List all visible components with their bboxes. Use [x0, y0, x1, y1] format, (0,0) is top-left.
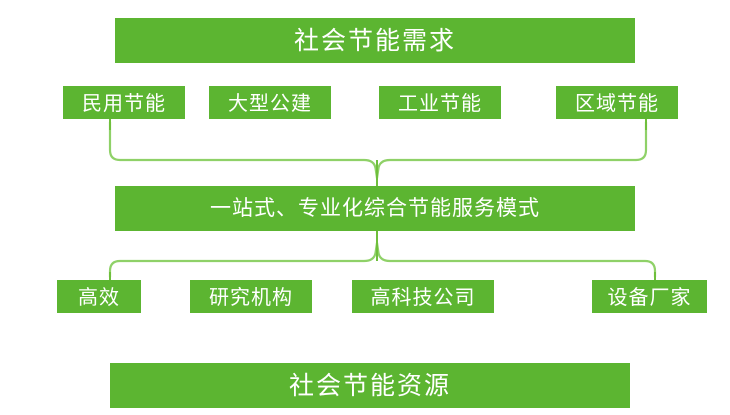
demand-chip-large-public: 大型公建: [209, 86, 331, 119]
demand-chip-regional-label: 区域节能: [575, 93, 659, 113]
center-service-bar-label: 一站式、专业化综合节能服务模式: [210, 198, 540, 219]
demand-chip-civil: 民用节能: [63, 86, 185, 119]
diagram-canvas: 社会节能需求 民用节能 大型公建 工业节能 区域节能 一站式、专业化综合节能服务…: [0, 0, 730, 415]
center-service-bar: 一站式、专业化综合节能服务模式: [115, 186, 635, 231]
footer-banner-label: 社会节能资源: [289, 373, 451, 398]
demand-chip-regional: 区域节能: [556, 86, 678, 119]
resource-chip-hitech-company: 高科技公司: [352, 280, 494, 313]
resource-chip-equipment-manufacturer-label: 设备厂家: [608, 287, 692, 307]
resource-chip-efficient: 高效: [57, 280, 141, 313]
lower-brace-icon: [110, 243, 655, 277]
title-banner: 社会节能需求: [115, 18, 635, 63]
resource-chip-research-institute-label: 研究机构: [209, 287, 293, 307]
resource-chip-equipment-manufacturer: 设备厂家: [592, 280, 707, 313]
upper-brace-icon: [110, 122, 646, 178]
title-banner-label: 社会节能需求: [294, 28, 456, 53]
demand-chip-industrial-label: 工业节能: [398, 93, 482, 113]
demand-chip-civil-label: 民用节能: [82, 93, 166, 113]
demand-chip-large-public-label: 大型公建: [228, 93, 312, 113]
resource-chip-efficient-label: 高效: [78, 287, 120, 307]
resource-chip-research-institute: 研究机构: [190, 280, 312, 313]
footer-banner: 社会节能资源: [110, 363, 630, 408]
demand-chip-industrial: 工业节能: [379, 86, 501, 119]
resource-chip-hitech-company-label: 高科技公司: [371, 287, 476, 307]
